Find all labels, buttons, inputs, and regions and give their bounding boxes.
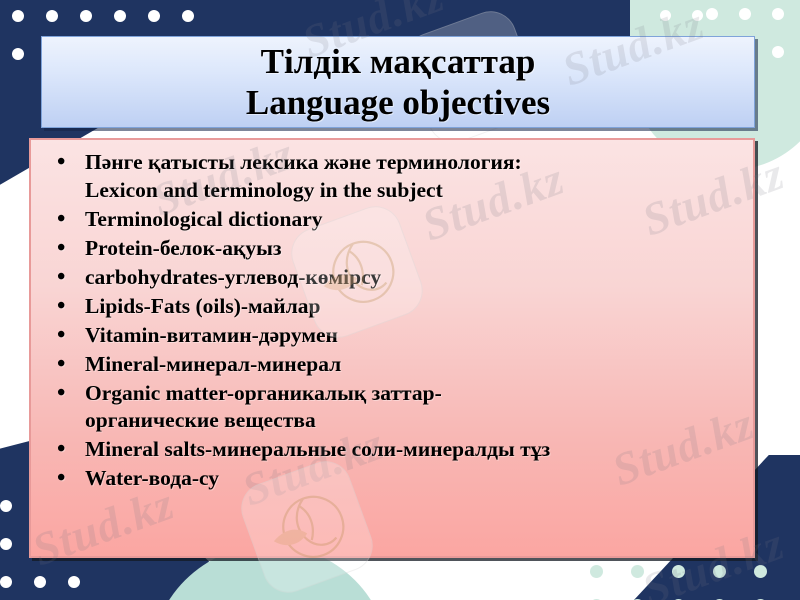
objective-sub-text: Lexicon and terminology in the subject bbox=[85, 177, 743, 205]
objective-item: Пәнге қатысты лексика және терминология:… bbox=[45, 149, 743, 205]
objective-main-text: Water-вода-су bbox=[85, 466, 219, 490]
objective-main-text: Protein-белок-ақуыз bbox=[85, 236, 282, 260]
objective-item: carbohydrates-углевод-көмірсу bbox=[45, 264, 743, 292]
objective-item: Lipids-Fats (oils)-майлар bbox=[45, 293, 743, 321]
objective-item: Mineral-минерал-минерал bbox=[45, 351, 743, 379]
bottom-right-dot-grid bbox=[590, 565, 795, 600]
slide-content-box: Пәнге қатысты лексика және терминология:… bbox=[29, 138, 755, 558]
objective-item: Protein-белок-ақуыз bbox=[45, 235, 743, 263]
objective-item: Water-вода-су bbox=[45, 465, 743, 493]
objective-main-text: Mineral salts-минеральные соли-минералды… bbox=[85, 437, 550, 461]
objectives-list: Пәнге қатысты лексика және терминология:… bbox=[45, 149, 743, 493]
objective-main-text: Organic matter-органикалық заттар- bbox=[85, 381, 442, 405]
objective-main-text: carbohydrates-углевод-көмірсу bbox=[85, 265, 381, 289]
title-line-english: Language objectives bbox=[246, 82, 550, 123]
objective-item: Terminological dictionary bbox=[45, 206, 743, 234]
slide-title-box: Тілдік мақсаттар Language objectives bbox=[41, 36, 755, 128]
objective-item: Organic matter-органикалық заттар-органи… bbox=[45, 380, 743, 436]
objective-item: Vitamin-витамин-дәрумен bbox=[45, 322, 743, 350]
objective-main-text: Lipids-Fats (oils)-майлар bbox=[85, 294, 320, 318]
presentation-slide: Тілдік мақсаттар Language objectives Пән… bbox=[0, 0, 800, 600]
objective-item: Mineral salts-минеральные соли-минералды… bbox=[45, 436, 743, 464]
title-line-kazakh: Тілдік мақсаттар bbox=[261, 41, 536, 82]
objective-sub-text: органические вещества bbox=[85, 407, 743, 435]
objective-main-text: Vitamin-витамин-дәрумен bbox=[85, 323, 338, 347]
objective-main-text: Terminological dictionary bbox=[85, 207, 323, 231]
objective-main-text: Пәнге қатысты лексика және терминология: bbox=[85, 150, 522, 174]
objective-main-text: Mineral-минерал-минерал bbox=[85, 352, 341, 376]
